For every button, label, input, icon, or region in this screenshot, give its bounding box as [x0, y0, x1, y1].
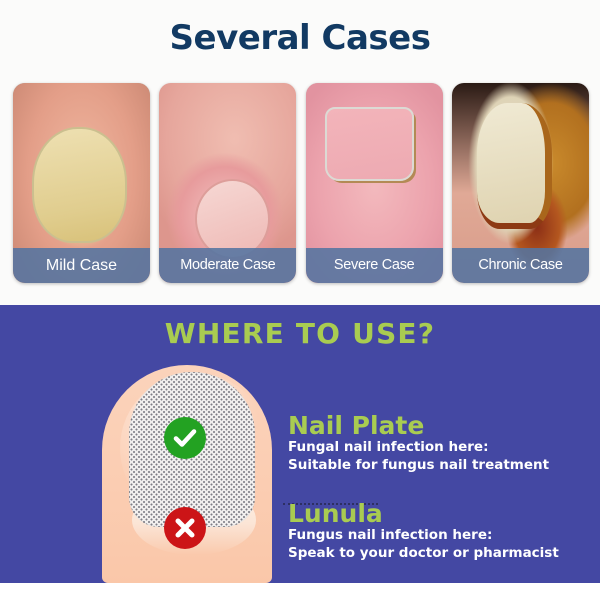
bottom-white-strip: [0, 583, 600, 600]
callout-lunula: Lunula Fungus nail infection here: Speak…: [288, 501, 559, 563]
case-card-severe[interactable]: Severe Case: [306, 83, 443, 283]
callout-nail-plate-line1: Fungal nail infection here:: [288, 439, 549, 457]
nail-diagram: [95, 365, 280, 583]
case-cards-row: Mild Case Moderate Case Severe Case Chro…: [13, 83, 589, 283]
callout-lunula-line1: Fungus nail infection here:: [288, 527, 559, 545]
case-label-mild: Mild Case: [13, 248, 150, 283]
callout-title-lunula: Lunula: [288, 501, 559, 527]
callout-lunula-line2: Speak to your doctor or pharmacist: [288, 545, 559, 563]
case-card-moderate[interactable]: Moderate Case: [159, 83, 296, 283]
page-title: Several Cases: [0, 18, 600, 58]
section-title: WHERE TO USE?: [0, 317, 600, 350]
where-to-use-section: WHERE TO USE? Nail Plate Fungal nail inf…: [0, 305, 600, 583]
callout-nail-plate-line2: Suitable for fungus nail treatment: [288, 457, 549, 475]
callout-nail-plate: Nail Plate Fungal nail infection here: S…: [288, 413, 549, 475]
x-icon: [164, 507, 206, 549]
case-label-moderate: Moderate Case: [159, 248, 296, 283]
toe-illustration: [102, 365, 272, 583]
case-label-chronic: Chronic Case: [452, 248, 589, 283]
case-card-mild[interactable]: Mild Case: [13, 83, 150, 283]
case-card-chronic[interactable]: Chronic Case: [452, 83, 589, 283]
callout-title-nail-plate: Nail Plate: [288, 413, 549, 439]
several-cases-section: Several Cases Mild Case Moderate Case Se…: [0, 0, 600, 305]
check-icon: [164, 417, 206, 459]
case-label-severe: Severe Case: [306, 248, 443, 283]
